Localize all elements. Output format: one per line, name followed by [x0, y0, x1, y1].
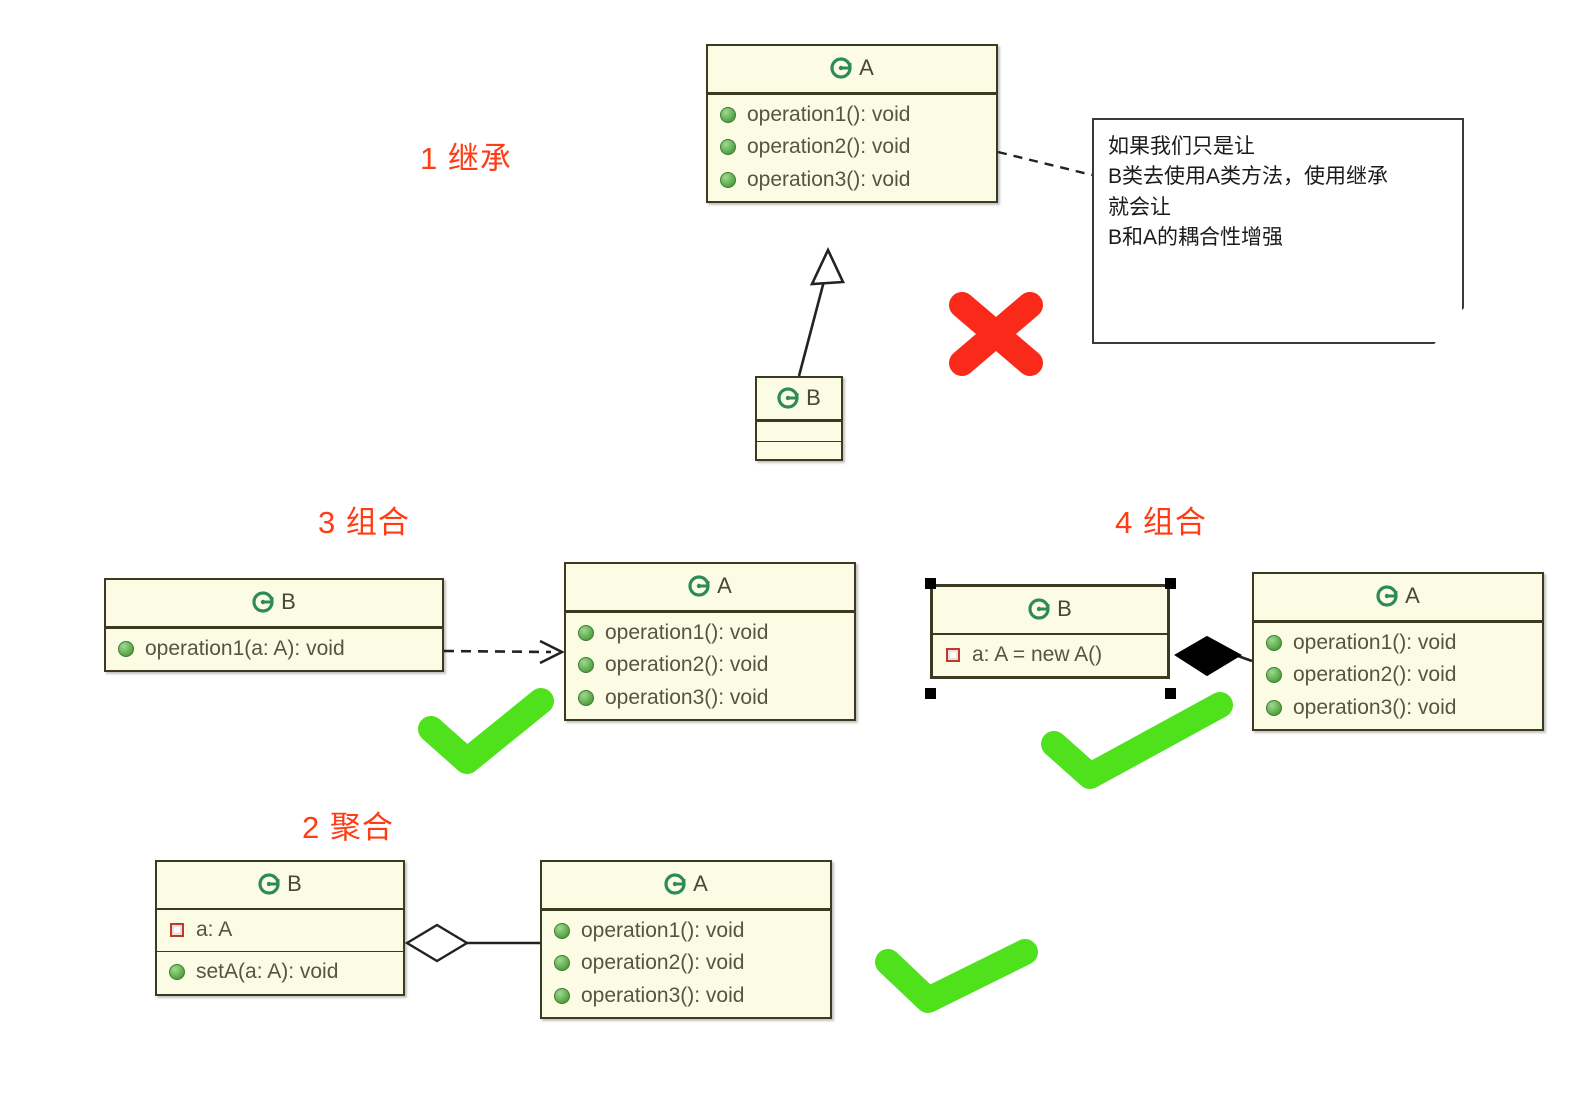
- field-row[interactable]: a: A: [157, 914, 403, 946]
- method-label: operation1(): void: [747, 102, 910, 128]
- method-public-icon: [554, 955, 570, 971]
- method-public-icon: [554, 988, 570, 1004]
- fields-compartment: a: A = new A(): [933, 635, 1167, 676]
- methods-compartment: operation1(): void operation2(): void op…: [1254, 622, 1542, 729]
- method-row[interactable]: operation1(): void: [708, 99, 996, 131]
- class-icon: [777, 387, 799, 409]
- dependency-line: [444, 651, 551, 652]
- class-icon: [258, 873, 280, 895]
- method-row[interactable]: operation2(): void: [1254, 659, 1542, 691]
- note-line: B和A的耦合性增强: [1108, 223, 1452, 253]
- correct-mark-icon: [888, 952, 1025, 1000]
- selection-handle-sw[interactable]: [925, 688, 936, 699]
- class-name: B: [287, 871, 302, 896]
- methods-compartment: setA(a: A): void: [157, 952, 403, 993]
- section-label-aggregation: 2 聚合: [302, 802, 394, 847]
- class-box-a-inheritance[interactable]: A operation1(): void operation2(): void …: [706, 44, 998, 203]
- note-line: 如果我们只是让: [1108, 132, 1452, 162]
- methods-compartment: operation1(): void operation2(): void op…: [566, 612, 854, 719]
- class-box-b-aggregation[interactable]: B a: A setA(a: A): void: [155, 860, 405, 996]
- field-label: a: A: [196, 917, 232, 943]
- methods-compartment: operation1(a: A): void: [106, 628, 442, 670]
- field-row[interactable]: a: A = new A(): [933, 639, 1167, 671]
- class-header: B: [106, 580, 442, 628]
- method-row[interactable]: operation1(a: A): void: [106, 633, 442, 665]
- class-header: B: [757, 378, 841, 421]
- wrong-mark-icon: [962, 305, 1030, 363]
- field-private-icon: [170, 923, 184, 937]
- class-box-b-inheritance[interactable]: B: [755, 376, 843, 461]
- note-line: 就会让: [1108, 193, 1452, 223]
- field-private-icon: [946, 648, 960, 662]
- method-row[interactable]: operation2(): void: [542, 947, 830, 979]
- class-header: A: [542, 862, 830, 910]
- correct-mark-icon: [431, 701, 541, 761]
- note-anchor-line: [998, 152, 1092, 175]
- dependency-arrowhead-icon: [540, 641, 562, 663]
- method-label: operation3(): void: [1293, 695, 1456, 721]
- section-label-inheritance: 1 继承: [420, 133, 512, 178]
- class-name: A: [1405, 583, 1420, 608]
- composition-diamond-icon: [1176, 637, 1240, 675]
- class-box-b-composition[interactable]: B a: A = new A(): [930, 584, 1170, 679]
- class-header: A: [708, 46, 996, 94]
- method-label: operation1(): void: [581, 918, 744, 944]
- class-name: B: [1057, 596, 1072, 621]
- class-icon: [252, 591, 274, 613]
- method-row[interactable]: operation1(): void: [1254, 627, 1542, 659]
- aggregation-diamond-icon: [407, 925, 467, 961]
- field-label: a: A = new A(): [972, 642, 1102, 668]
- selection-handle-ne[interactable]: [1165, 578, 1176, 589]
- class-box-a-composition[interactable]: A operation1(): void operation2(): void …: [1252, 572, 1544, 731]
- method-row[interactable]: operation1(): void: [566, 617, 854, 649]
- method-label: operation3(): void: [581, 983, 744, 1009]
- class-box-a-dependency[interactable]: A operation1(): void operation2(): void …: [564, 562, 856, 721]
- class-header: B: [933, 587, 1167, 635]
- method-row[interactable]: operation3(): void: [566, 682, 854, 714]
- method-label: operation2(): void: [605, 652, 768, 678]
- method-public-icon: [578, 690, 594, 706]
- diagram-canvas: 1 继承 A operation1(): void operation2(): …: [0, 0, 1574, 1108]
- fields-compartment: a: A: [157, 910, 403, 952]
- class-name: B: [806, 385, 821, 410]
- method-public-icon: [1266, 667, 1282, 683]
- method-public-icon: [169, 964, 185, 980]
- method-row[interactable]: operation2(): void: [566, 649, 854, 681]
- method-public-icon: [720, 107, 736, 123]
- method-public-icon: [720, 172, 736, 188]
- method-label: operation2(): void: [581, 950, 744, 976]
- class-header: B: [157, 862, 403, 910]
- generalization-arrowhead-icon: [812, 250, 843, 284]
- method-label: operation3(): void: [605, 685, 768, 711]
- note-line: B类去使用A类方法，使用继承: [1108, 162, 1452, 192]
- selection-handle-se[interactable]: [1165, 688, 1176, 699]
- class-icon: [1376, 585, 1398, 607]
- method-row[interactable]: operation2(): void: [708, 131, 996, 163]
- method-public-icon: [118, 641, 134, 657]
- selection-handle-nw[interactable]: [925, 578, 936, 589]
- fields-compartment: [757, 421, 841, 442]
- class-icon: [1028, 598, 1050, 620]
- method-public-icon: [578, 657, 594, 673]
- class-name: A: [859, 55, 874, 80]
- class-box-a-aggregation[interactable]: A operation1(): void operation2(): void …: [540, 860, 832, 1019]
- method-label: operation2(): void: [1293, 662, 1456, 688]
- methods-compartment: operation1(): void operation2(): void op…: [708, 94, 996, 201]
- method-public-icon: [554, 923, 570, 939]
- method-public-icon: [1266, 635, 1282, 651]
- class-icon: [830, 57, 852, 79]
- method-public-icon: [1266, 700, 1282, 716]
- method-row[interactable]: setA(a: A): void: [157, 956, 403, 988]
- correct-mark-icon: [1054, 705, 1220, 776]
- methods-compartment: operation1(): void operation2(): void op…: [542, 910, 830, 1017]
- method-label: operation2(): void: [747, 134, 910, 160]
- method-row[interactable]: operation3(): void: [1254, 692, 1542, 724]
- methods-compartment: [757, 442, 841, 459]
- composition-line: [1238, 656, 1252, 661]
- method-label: setA(a: A): void: [196, 959, 338, 985]
- section-label-composition: 4 组合: [1115, 497, 1207, 542]
- class-name: B: [281, 589, 296, 614]
- class-box-b-dependency[interactable]: B operation1(a: A): void: [104, 578, 444, 672]
- method-label: operation1(): void: [1293, 630, 1456, 656]
- method-row[interactable]: operation1(): void: [542, 915, 830, 947]
- method-label: operation1(): void: [605, 620, 768, 646]
- method-row[interactable]: operation3(): void: [708, 164, 996, 196]
- class-header: A: [566, 564, 854, 612]
- class-header: A: [1254, 574, 1542, 622]
- method-public-icon: [720, 139, 736, 155]
- note-box[interactable]: 如果我们只是让 B类去使用A类方法，使用继承 就会让 B和A的耦合性增强: [1092, 118, 1464, 344]
- generalization-line: [799, 281, 824, 376]
- method-row[interactable]: operation3(): void: [542, 980, 830, 1012]
- method-label: operation1(a: A): void: [145, 636, 345, 662]
- method-label: operation3(): void: [747, 167, 910, 193]
- class-icon: [664, 873, 686, 895]
- section-label-dependency: 3 组合: [318, 497, 410, 542]
- class-name: A: [717, 573, 732, 598]
- class-icon: [688, 575, 710, 597]
- class-name: A: [693, 871, 708, 896]
- method-public-icon: [578, 625, 594, 641]
